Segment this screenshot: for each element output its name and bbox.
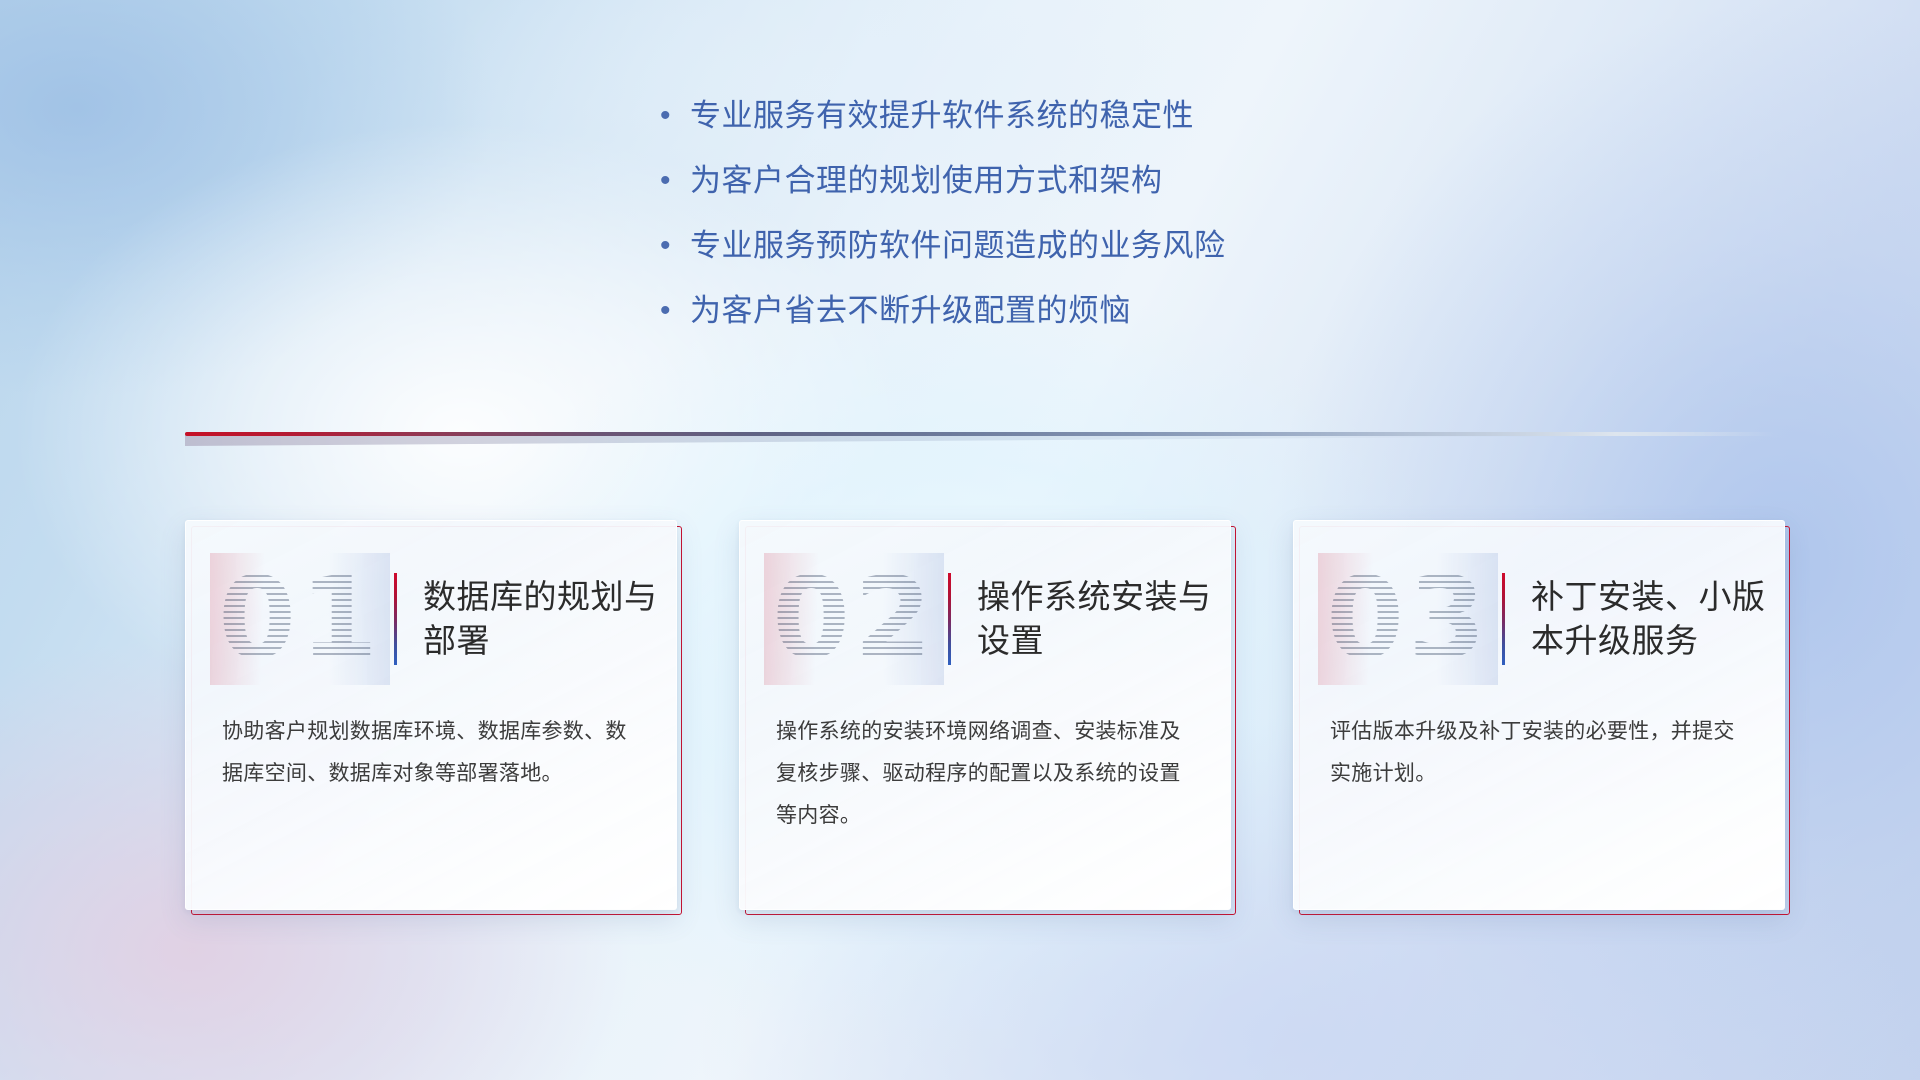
card-header: 03 补丁安装、小版本升级服务: [1294, 549, 1784, 689]
bullet-dot-icon: •: [660, 96, 690, 136]
bullet-text: 为客户合理的规划使用方式和架构: [690, 161, 1163, 201]
section-divider: [185, 424, 1775, 446]
card-number-text: 03: [1326, 563, 1490, 675]
card-number-watermark: 03: [1318, 553, 1498, 685]
card-title: 补丁安装、小版本升级服务: [1531, 575, 1767, 663]
bullet-dot-icon: •: [660, 161, 690, 201]
card-divider-bar: [394, 573, 397, 665]
card-surface: 02 操作系统安装与设置 操作系统的安装环境网络调查、安装标准及复核步骤、驱动程…: [739, 520, 1231, 910]
card-divider-bar: [948, 573, 951, 665]
divider-wedge: [185, 435, 1775, 446]
service-card[interactable]: 01 数据库的规划与部署 协助客户规划数据库环境、数据库参数、数据库空间、数据库…: [185, 520, 677, 910]
card-surface: 03 补丁安装、小版本升级服务 评估版本升级及补丁安装的必要性，并提交实施计划。: [1293, 520, 1785, 910]
bullet-item: • 专业服务预防软件问题造成的业务风险: [660, 226, 1226, 291]
card-title: 操作系统安装与设置: [977, 575, 1213, 663]
divider-line: [185, 432, 1775, 436]
card-number-watermark: 01: [210, 553, 390, 685]
service-card-list: 01 数据库的规划与部署 协助客户规划数据库环境、数据库参数、数据库空间、数据库…: [185, 520, 1785, 910]
bullet-dot-icon: •: [660, 291, 690, 331]
card-description: 操作系统的安装环境网络调查、安装标准及复核步骤、驱动程序的配置以及系统的设置等内…: [776, 711, 1198, 837]
card-header: 02 操作系统安装与设置: [740, 549, 1230, 689]
bullet-list: • 专业服务有效提升软件系统的稳定性 • 为客户合理的规划使用方式和架构 • 专…: [660, 96, 1226, 356]
bullet-text: 专业服务有效提升软件系统的稳定性: [690, 96, 1194, 136]
service-card[interactable]: 03 补丁安装、小版本升级服务 评估版本升级及补丁安装的必要性，并提交实施计划。: [1293, 520, 1785, 910]
card-surface: 01 数据库的规划与部署 协助客户规划数据库环境、数据库参数、数据库空间、数据库…: [185, 520, 677, 910]
card-number-text: 02: [772, 563, 936, 675]
card-title: 数据库的规划与部署: [423, 575, 659, 663]
card-header: 01 数据库的规划与部署: [186, 549, 676, 689]
card-number-text: 01: [218, 563, 382, 675]
card-divider-bar: [1502, 573, 1505, 665]
bullet-item: • 为客户合理的规划使用方式和架构: [660, 161, 1226, 226]
service-card[interactable]: 02 操作系统安装与设置 操作系统的安装环境网络调查、安装标准及复核步骤、驱动程…: [739, 520, 1231, 910]
bullet-dot-icon: •: [660, 226, 690, 266]
bullet-item: • 为客户省去不断升级配置的烦恼: [660, 291, 1226, 356]
card-number-watermark: 02: [764, 553, 944, 685]
card-description: 协助客户规划数据库环境、数据库参数、数据库空间、数据库对象等部署落地。: [222, 711, 644, 795]
bullet-item: • 专业服务有效提升软件系统的稳定性: [660, 96, 1226, 161]
card-description: 评估版本升级及补丁安装的必要性，并提交实施计划。: [1330, 711, 1752, 795]
bullet-text: 为客户省去不断升级配置的烦恼: [690, 291, 1131, 331]
bullet-text: 专业服务预防软件问题造成的业务风险: [690, 226, 1226, 266]
